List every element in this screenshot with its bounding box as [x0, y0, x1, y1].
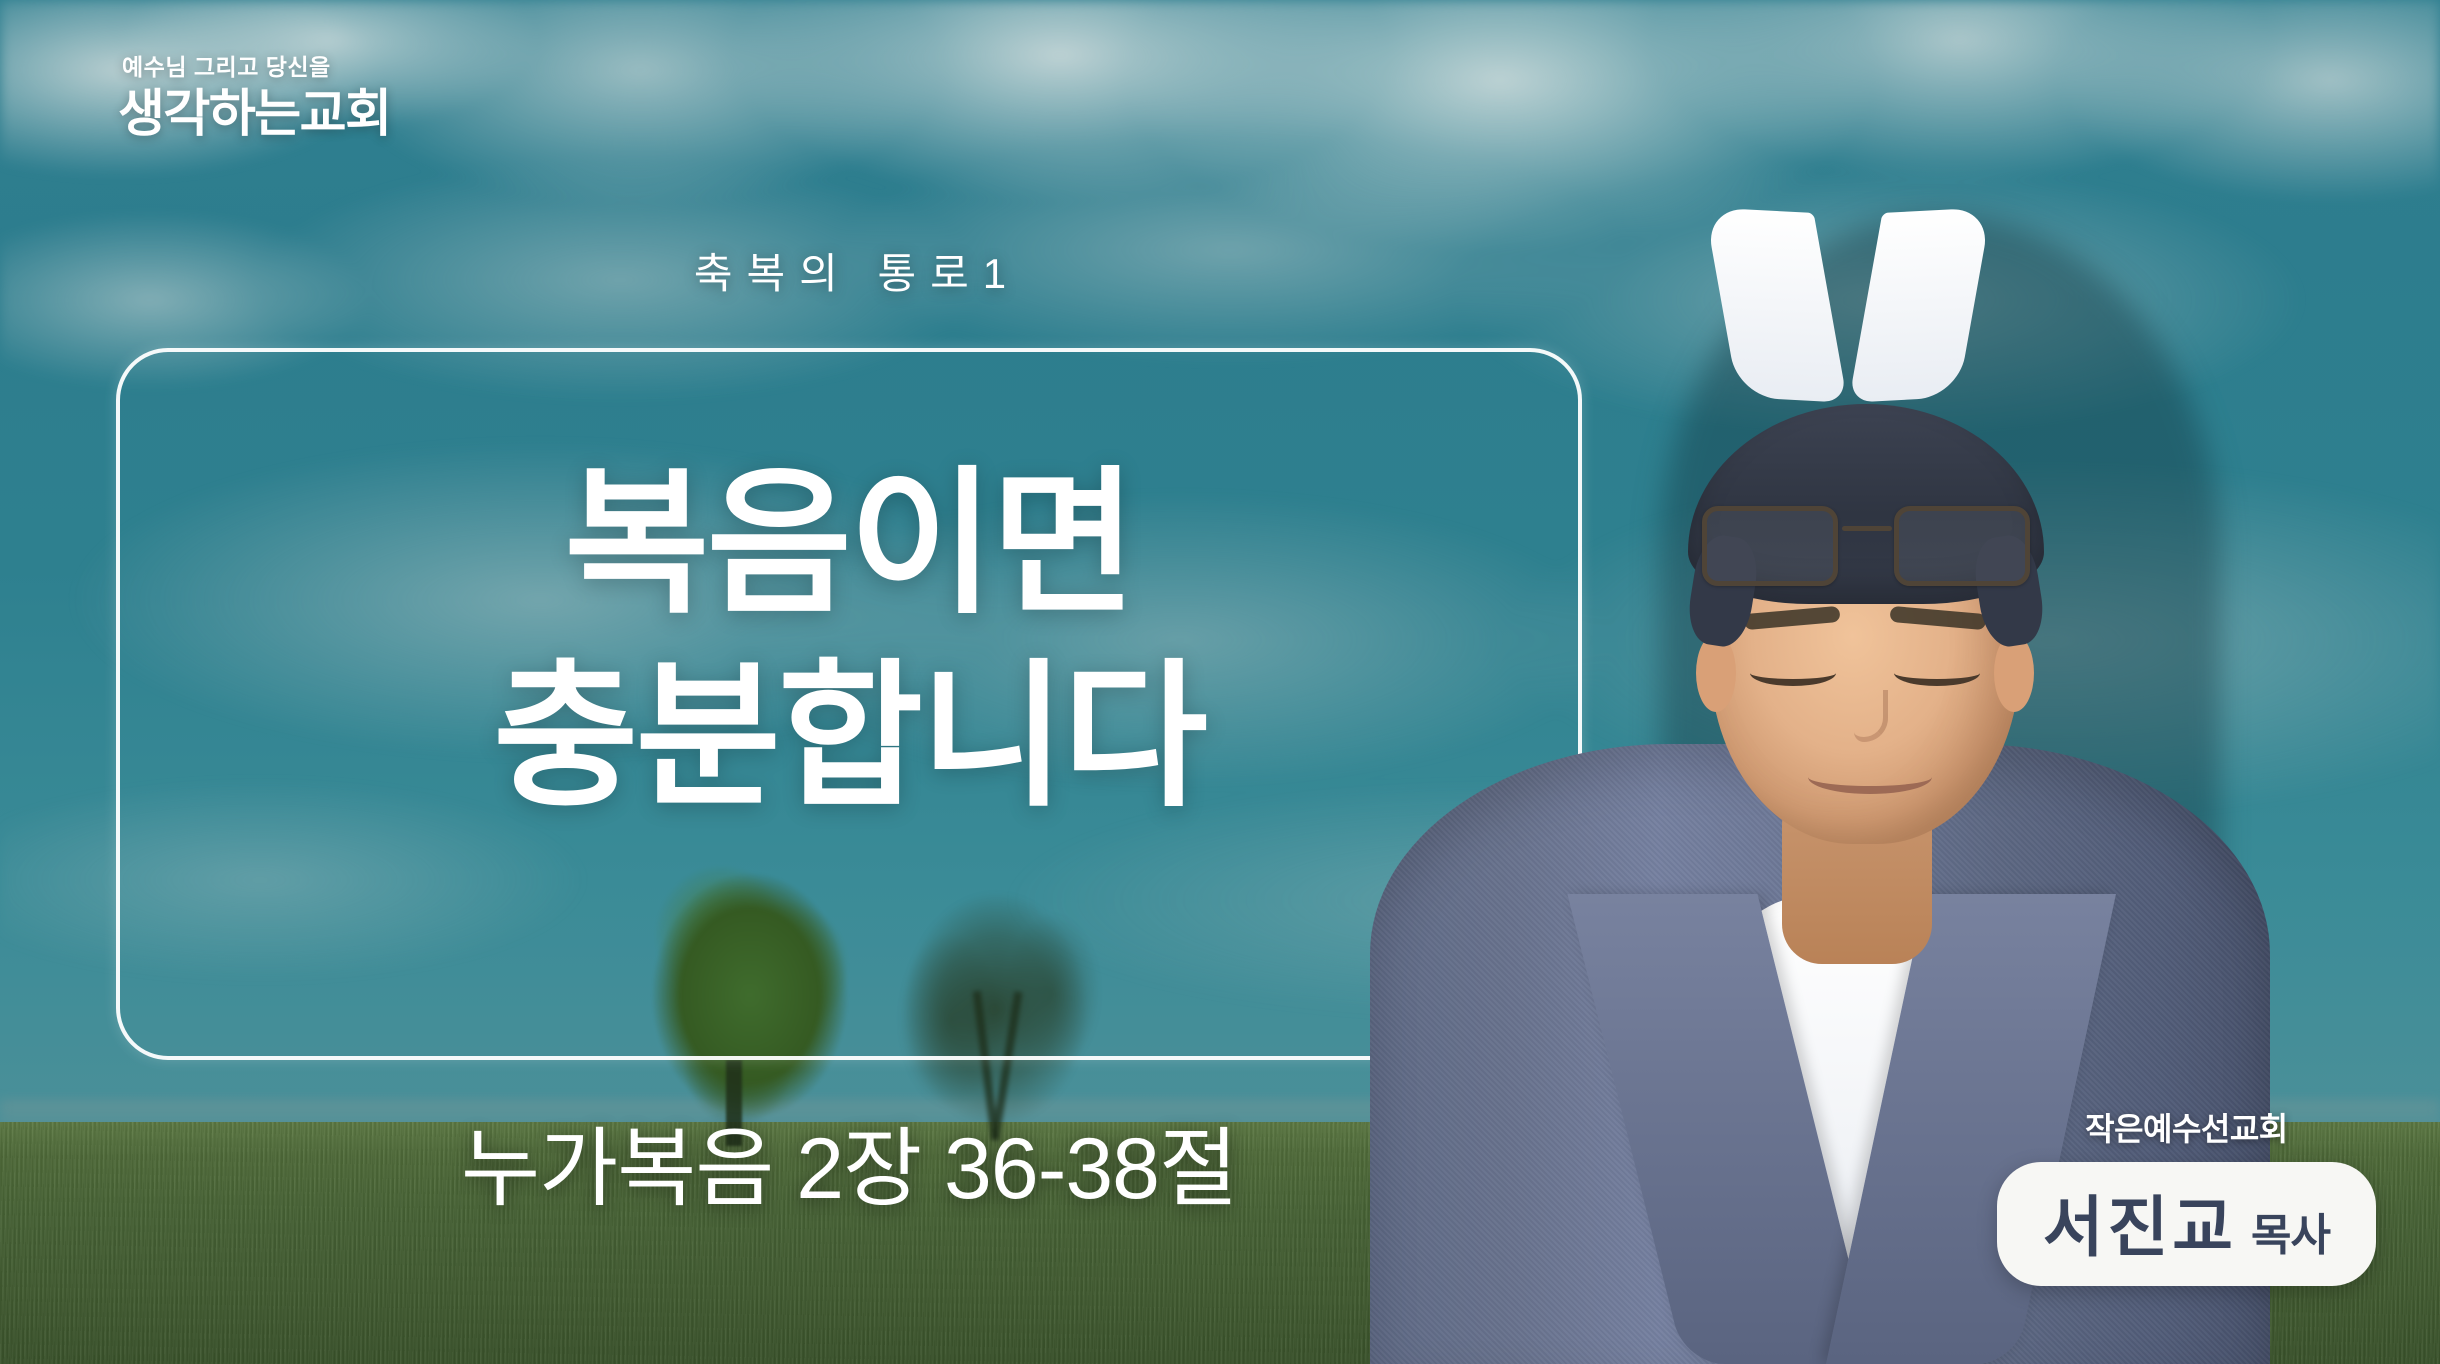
- eyeglasses-icon: [1696, 494, 2036, 604]
- smiling-mouth: [1808, 760, 1932, 794]
- eye-left-closed: [1750, 660, 1836, 686]
- eye-right-closed: [1894, 660, 1980, 686]
- glasses-bridge: [1842, 526, 1892, 531]
- speaker-name: 서진교: [2043, 1174, 2237, 1270]
- logo-tagline: 예수님 그리고 당신을: [122, 48, 391, 82]
- eyebrow-right: [1889, 606, 1986, 630]
- logo-church-name: 생각하는교회: [118, 86, 391, 141]
- speaker-pill: 서진교 목사: [1997, 1162, 2376, 1286]
- speaker-organization: 작은예수선교회: [1997, 1104, 2376, 1150]
- sermon-title-card: 예수님 그리고 당신을 생각하는교회 축복의 통로1 복음이면 충분합니다 누가…: [0, 0, 2440, 1364]
- lens-right: [1894, 506, 2030, 586]
- church-logo: 예수님 그리고 당신을 생각하는교회: [118, 48, 391, 141]
- eyebrow-left: [1743, 606, 1840, 630]
- lens-left: [1702, 506, 1838, 586]
- nose: [1854, 690, 1888, 742]
- speaker-name-plate: 작은예수선교회 서진교 목사: [1997, 1104, 2376, 1286]
- speaker-role: 목사: [2251, 1199, 2330, 1263]
